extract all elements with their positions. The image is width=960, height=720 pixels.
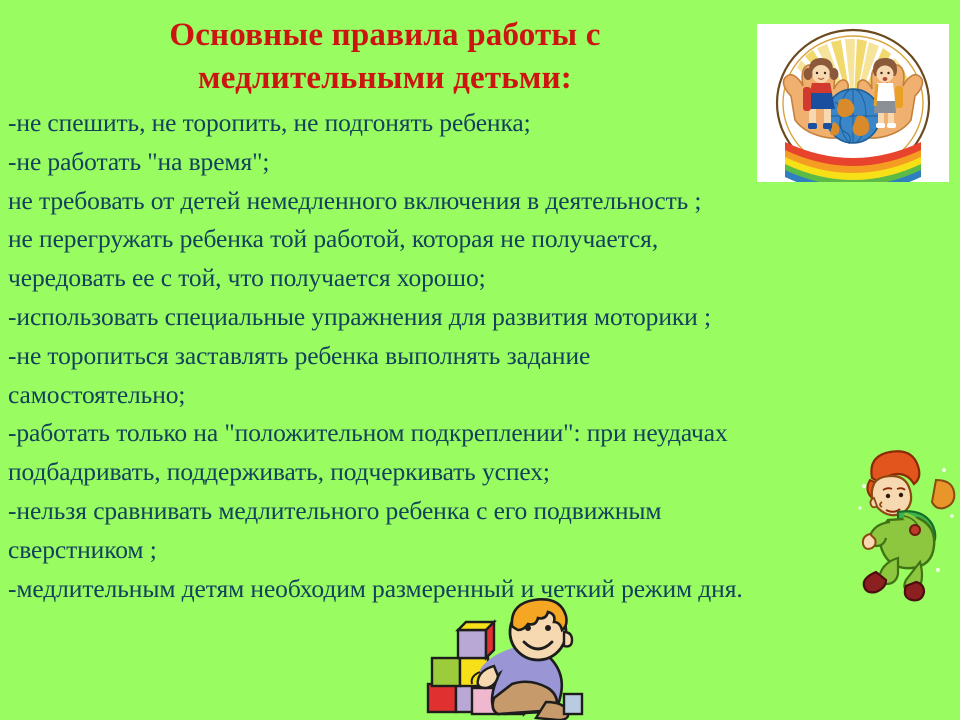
rules-line: -не торопиться заставлять ребенка выполн…: [8, 337, 952, 376]
running-boy-illustration: [852, 446, 960, 604]
boy-playing-with-blocks-illustration: [414, 598, 594, 720]
rules-line: подбадривать, поддерживать, подчеркивать…: [8, 453, 952, 492]
rules-line: сверстником ;: [8, 531, 952, 570]
page-title-line-2: медлительными детьми:: [0, 57, 770, 100]
rules-line: -работать только на "положительном подкр…: [8, 414, 952, 453]
rules-line: чередовать ее с той, что получается хоро…: [8, 259, 952, 298]
rules-line: -нельзя сравнивать медлительного ребенка…: [8, 492, 952, 531]
rules-line: самостоятельно;: [8, 376, 952, 415]
rules-line: не требовать от детей немедленного включ…: [8, 182, 952, 221]
page-title-line-1: Основные правила работы с: [0, 14, 770, 57]
hands-holding-globe-with-children-emblem: [757, 24, 949, 182]
rules-line: не перегружать ребенка той работой, кото…: [8, 220, 952, 259]
slide-root: Основные правила работы с медлительными …: [0, 0, 960, 720]
rules-line: -использовать специальные упражнения для…: [8, 298, 952, 337]
page-title: Основные правила работы с медлительными …: [0, 14, 770, 100]
